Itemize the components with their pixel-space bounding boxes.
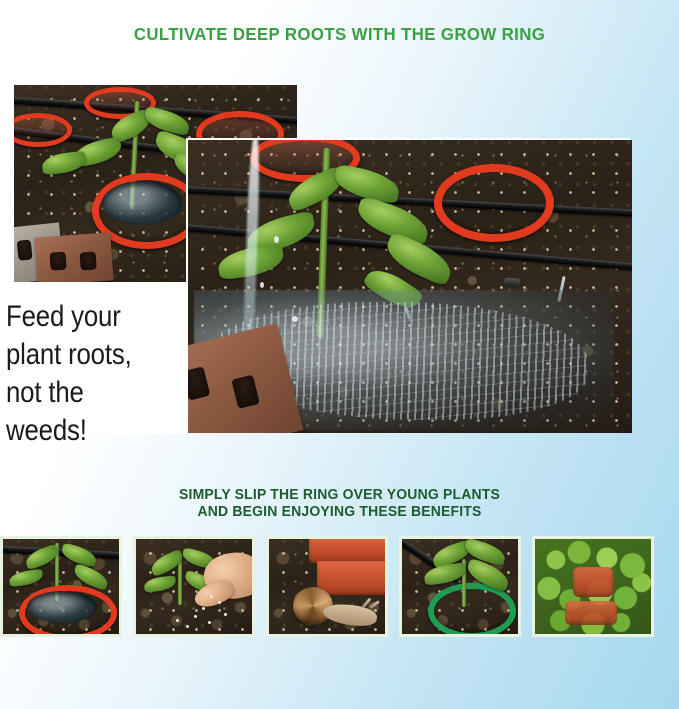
- thumb-snail-pot: [266, 536, 388, 637]
- benefit-thumbnail-row: Direct water to plant roots Prevent fert…: [0, 536, 679, 638]
- benefits-subheading: SIMPLY SLIP THE RING OVER YOUNG PLANTS A…: [10, 487, 669, 521]
- fertilizer-granule: [210, 595, 213, 598]
- ring-water: [102, 181, 182, 225]
- thumb-red-ring-tomato: [0, 536, 122, 637]
- ring-water: [27, 591, 97, 623]
- quote-text: Feed your plant roots, not the weeds!: [6, 298, 161, 450]
- fertilizer-granule: [186, 625, 189, 628]
- block-hole: [17, 239, 33, 260]
- grow-ring-green: [428, 583, 516, 637]
- fertilizer-granule: [208, 621, 211, 624]
- thumb-green-ring-drip: [399, 536, 521, 637]
- fertilizer-granule: [224, 613, 227, 616]
- thumb-hand-fertilizer: [133, 536, 255, 637]
- block-hole: [80, 251, 97, 270]
- water-droplet: [260, 282, 264, 288]
- water-droplet: [292, 316, 298, 322]
- water-droplet: [274, 236, 279, 243]
- fertilizer-granule: [176, 619, 179, 622]
- drip-emitter: [504, 277, 521, 287]
- pot-body: [317, 561, 388, 595]
- fertilizer-granule: [218, 601, 221, 604]
- block-hole: [188, 366, 210, 400]
- brick: [34, 232, 113, 282]
- infographic-page: CULTIVATE DEEP ROOTS WITH THE GROW RING: [0, 0, 679, 709]
- block-hole: [231, 375, 260, 409]
- hero-photo-watering-grow-ring: [188, 140, 632, 433]
- fertilizer-granule: [202, 607, 205, 610]
- grow-ring: [434, 164, 554, 242]
- page-headline: CULTIVATE DEEP ROOTS WITH THE GROW RING: [14, 24, 666, 45]
- fertilizer-granule: [194, 615, 197, 618]
- buried-pot: [565, 601, 617, 625]
- block-hole: [50, 252, 67, 271]
- subheading-line-2: AND BEGIN ENJOYING THESE BENEFITS: [10, 504, 669, 521]
- thumb-herb-foliage: [532, 536, 654, 637]
- pot-rim: [309, 536, 388, 563]
- buried-pot: [573, 567, 613, 597]
- subheading-line-1: SIMPLY SLIP THE RING OVER YOUNG PLANTS: [179, 487, 500, 503]
